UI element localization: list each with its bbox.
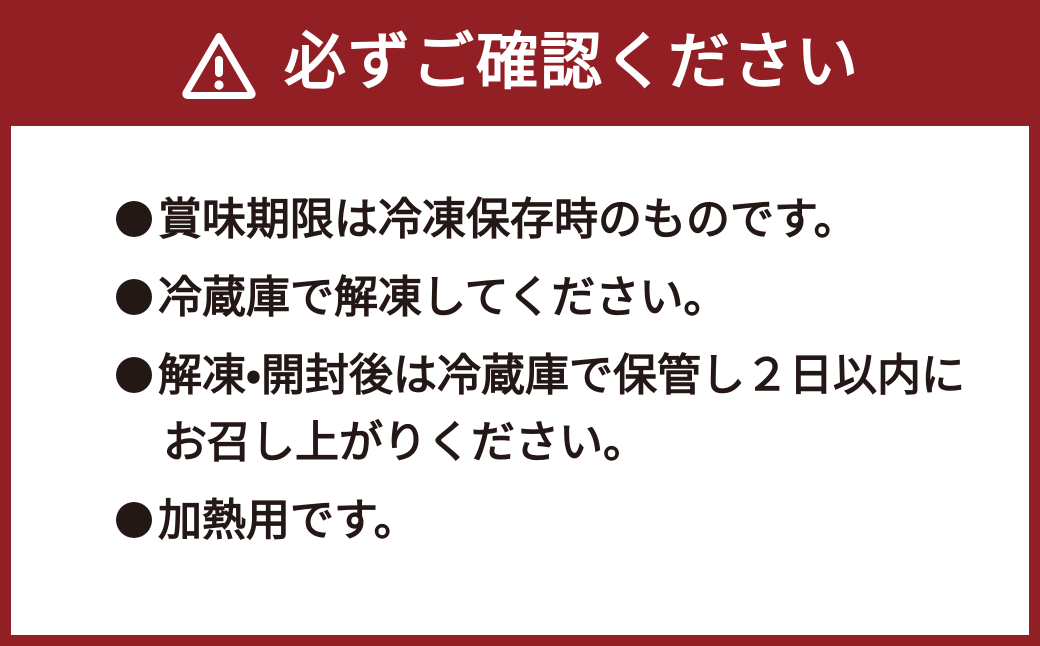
list-item-continuation: お召し上がりください。 [116,421,1029,466]
list-item: 解凍・開封後は冷蔵庫で保管し２日以内に [116,354,1029,399]
list-item-text: 解凍・開封後は冷蔵庫で保管し２日以内に [158,351,965,400]
notice-card: 必ずご確認ください 賞味期限は冷凍保存時のものです。 冷蔵庫で解凍してください。… [0,0,1040,646]
notice-list: 賞味期限は冷凍保存時のものです。 冷蔵庫で解凍してください。 解凍・開封後は冷蔵… [11,198,1029,543]
bullet-icon [116,201,152,237]
warning-triangle-icon [180,29,258,101]
list-item: 加熱用です。 [116,499,1029,544]
list-item-text: 賞味期限は冷凍保存時のものです。 [158,195,858,244]
list-item: 賞味期限は冷凍保存時のものです。 [116,198,1029,243]
bullet-icon [116,279,152,315]
bullet-icon [116,357,152,393]
list-item: 冷蔵庫で解凍してください。 [116,276,1029,321]
notice-header: 必ずご確認ください [0,0,1040,126]
page-title: 必ずご確認ください [284,32,860,94]
bullet-icon [116,502,152,538]
notice-body-panel: 賞味期限は冷凍保存時のものです。 冷蔵庫で解凍してください。 解凍・開封後は冷蔵… [11,126,1029,635]
list-item-text: 冷蔵庫で解凍してください。 [158,273,727,322]
list-item-text: 加熱用です。 [158,496,418,545]
